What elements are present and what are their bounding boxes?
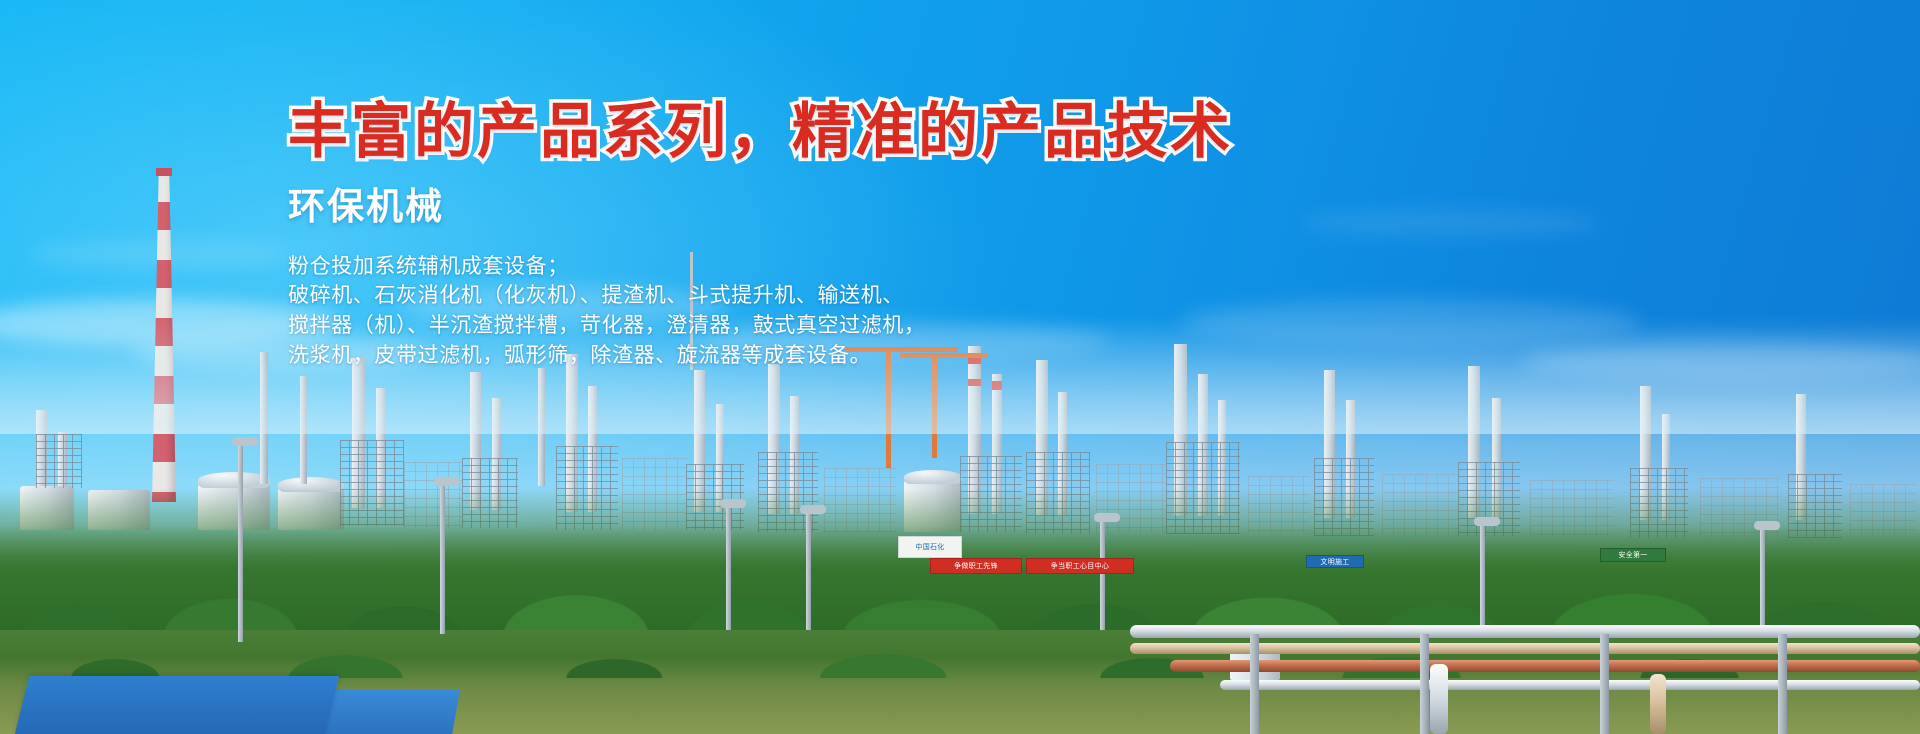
cloud [1300,210,1600,236]
sign-blue-text: 文明施工 [1320,557,1349,567]
lamp-head-icon [720,499,746,508]
pipe [1130,643,1920,654]
pipe-support [1600,634,1609,734]
pipe-rack [1130,574,1920,734]
sign-blue: 文明施工 [1306,555,1364,568]
description-line-4: 洗浆机，皮带过滤机，弧形筛，除渣器、旋流器等成套设备。 [288,341,1288,371]
sign-green: 安全第一 [1600,548,1666,562]
lamp-post [1100,518,1105,630]
lamp-post [726,504,731,630]
pipe-support [1420,634,1429,734]
sign-red-left-text: 争做职工先锋 [954,561,998,571]
sign-green-text: 安全第一 [1618,550,1647,560]
sign-red-right-text: 争当职工心目中心 [1051,561,1109,571]
hero-copy: 丰富的产品系列，精准的产品技术 环保机械 粉仓投加系统辅机成套设备； 破碎机、石… [288,98,1288,371]
sign-red-left: 争做职工先锋 [930,558,1022,574]
lamp-head-icon [1754,521,1780,530]
pipe [1170,660,1920,672]
lamp-head-icon [1474,517,1500,526]
sign-white-text: 中国石化 [915,542,944,552]
page-subtitle: 环保机械 [288,185,1288,229]
page-title: 丰富的产品系列，精准的产品技术 [288,98,1288,165]
description-line-3: 搅拌器（机）、半沉渣搅拌槽，苛化器，澄清器，鼓式真空过滤机， [288,311,1288,341]
lamp-head-icon [1094,513,1120,522]
riser-pipe [1650,674,1666,734]
lamp-post [806,510,811,630]
blue-roof-primary [15,676,339,734]
description-line-1: 粉仓投加系统辅机成套设备； [288,252,1288,282]
hero-banner: 中国石化 争做职工先锋 争当职工心目中心 安全第一 文明施工 丰富的产品系列，精… [0,0,1920,734]
lamp-post [238,442,243,642]
lamp-head-icon [434,477,460,486]
lattice-frame [36,434,82,488]
sign-red-right: 争当职工心目中心 [1026,558,1134,574]
description-block: 粉仓投加系统辅机成套设备； 破碎机、石灰消化机（化灰机）、提渣机、斗式提升机、输… [288,252,1288,371]
pipe [1220,680,1920,690]
pipe [1130,625,1920,638]
sign-white: 中国石化 [898,536,962,558]
lamp-head-icon [800,505,826,514]
pipe-support [1250,634,1259,734]
riser-pipe [1430,664,1448,734]
description-line-2: 破碎机、石灰消化机（化灰机）、提渣机、斗式提升机、输送机、 [288,281,1288,311]
lamp-post [440,482,445,634]
chimney-cap [156,168,172,176]
pipe-support [1778,634,1787,734]
tank-dome [904,470,962,484]
lamp-head-icon [232,437,258,446]
